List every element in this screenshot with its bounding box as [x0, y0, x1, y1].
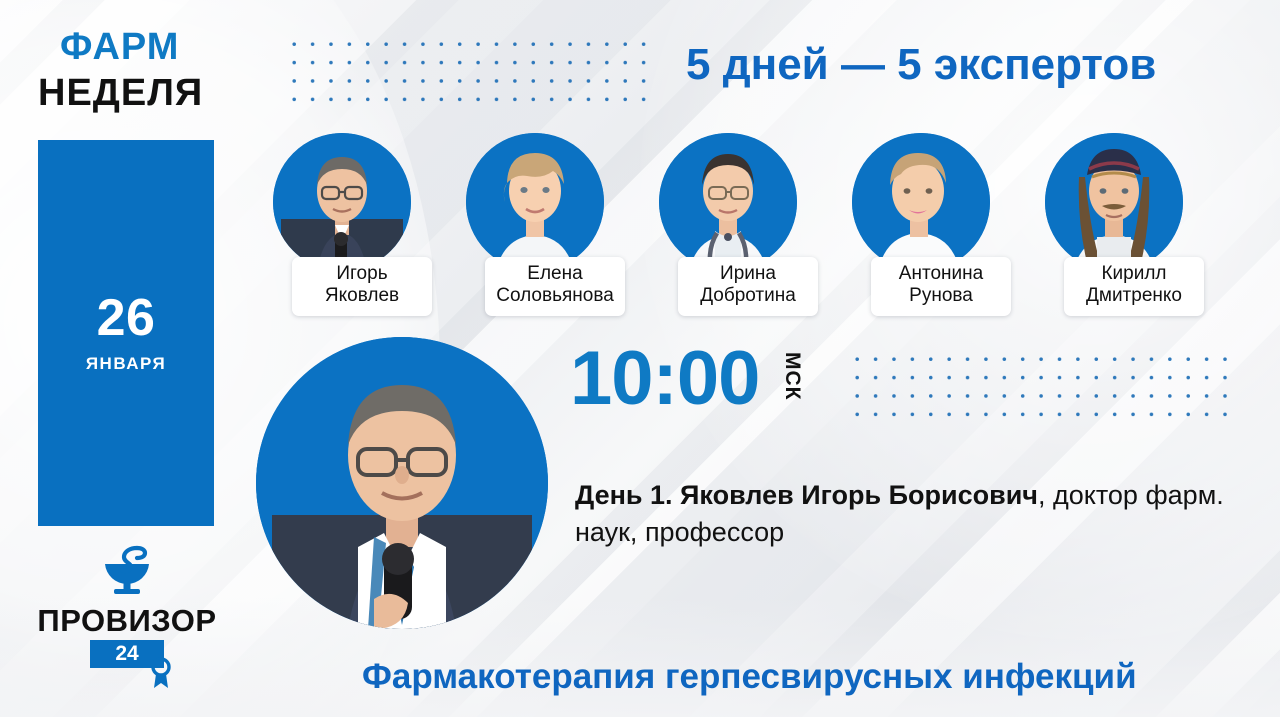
- logo-wordmark: ПРОВИЗОР: [22, 605, 232, 636]
- expert-name-card-4: Антонина Рунова: [871, 257, 1011, 316]
- expert-name-card-5: Кирилл Дмитренко: [1064, 257, 1204, 316]
- expert-card-3[interactable]: Ирина Добротина: [638, 133, 818, 316]
- date-day: 26: [97, 292, 156, 344]
- date-month: ЯНВАРЯ: [86, 354, 166, 374]
- logo: ПРОВИЗОР 24: [22, 542, 232, 668]
- brand-title-nedelya: НЕДЕЛЯ: [38, 74, 203, 112]
- avatar-igor-yakovlev: [273, 133, 411, 271]
- expert-first-name: Игорь: [302, 263, 422, 285]
- expert-last-name: Яковлев: [302, 285, 422, 307]
- promo-banner: ФАРМ НЕДЕЛЯ 26 ЯНВАРЯ ПРОВИЗОР 24: [0, 0, 1280, 717]
- speaker-description: День 1. Яковлев Игорь Борисович, доктор …: [575, 477, 1265, 550]
- award-ribbon-icon: [148, 656, 174, 695]
- brand-title-farm: ФАРМ: [60, 28, 179, 66]
- avatar-antonina-runova: [852, 133, 990, 271]
- expert-card-1[interactable]: Игорь Яковлев: [252, 133, 432, 316]
- expert-card-4[interactable]: Антонина Рунова: [831, 133, 1011, 316]
- portrait-igor-yakovlev: [256, 337, 548, 629]
- session-timezone: МСК: [780, 352, 804, 400]
- avatar-elena-solovyanova: [466, 133, 604, 271]
- expert-name-card-3: Ирина Добротина: [678, 257, 818, 316]
- bowl-of-hygieia-icon: [22, 542, 232, 603]
- date-block: 26 ЯНВАРЯ: [38, 140, 214, 526]
- lecture-title: Фармакотерапия герпесвирусных инфекций: [362, 657, 1137, 697]
- dot-grid-middle: [846, 348, 1236, 420]
- avatar-kirill-dmitrenko: [1045, 133, 1183, 271]
- expert-last-name: Рунова: [881, 285, 1001, 307]
- expert-first-name: Ирина: [688, 263, 808, 285]
- expert-card-2[interactable]: Елена Соловьянова: [445, 133, 625, 316]
- expert-first-name: Кирилл: [1074, 263, 1194, 285]
- dot-grid-top: [283, 33, 651, 113]
- session-time: 10:00: [570, 341, 759, 417]
- avatar-irina-dobrotina: [659, 133, 797, 271]
- expert-first-name: Антонина: [881, 263, 1001, 285]
- expert-last-name: Дмитренко: [1074, 285, 1194, 307]
- expert-last-name: Добротина: [688, 285, 808, 307]
- expert-card-5[interactable]: Кирилл Дмитренко: [1024, 133, 1204, 316]
- expert-name-card-1: Игорь Яковлев: [292, 257, 432, 316]
- expert-first-name: Елена: [495, 263, 615, 285]
- speaker-name: День 1. Яковлев Игорь Борисович: [575, 480, 1038, 510]
- headline: 5 дней — 5 экспертов: [686, 40, 1156, 90]
- experts-strip: Игорь Яковлев Елена: [252, 133, 1212, 333]
- logo-badge-wrap: 24: [90, 640, 164, 668]
- expert-name-card-2: Елена Соловьянова: [485, 257, 625, 316]
- expert-last-name: Соловьянова: [495, 285, 615, 307]
